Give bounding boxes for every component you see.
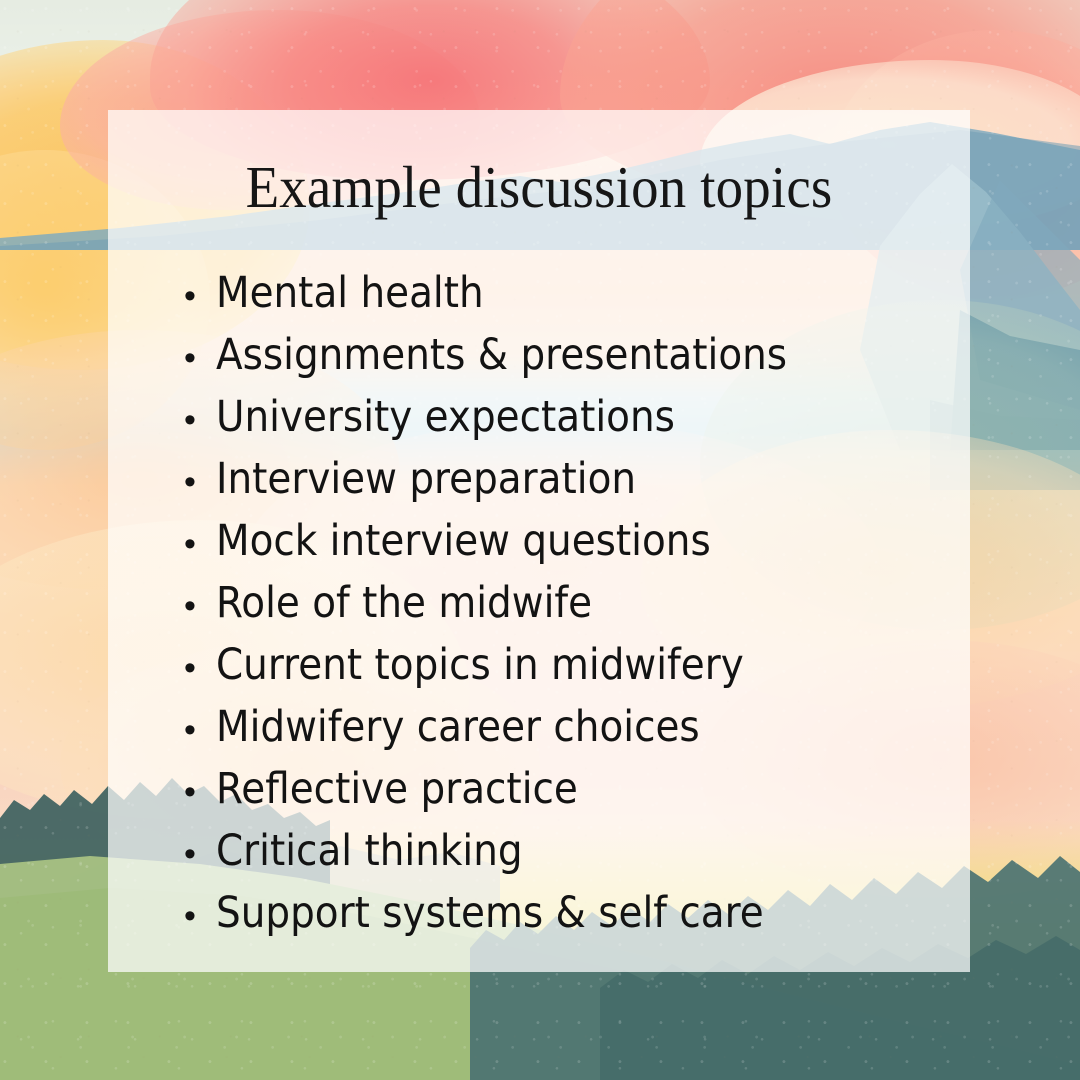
discussion-topics-list: • Mental health • Assignments & presenta…: [184, 262, 946, 944]
list-item-label: Critical thinking: [216, 820, 523, 882]
list-item: • Role of the midwife: [184, 572, 946, 634]
list-item-label: Assignments & presentations: [216, 324, 787, 386]
list-item: • Reflective practice: [184, 758, 946, 820]
bullet-icon: •: [184, 451, 216, 513]
bullet-icon: •: [184, 389, 216, 451]
list-item: • Interview preparation: [184, 448, 946, 510]
list-item: • Current topics in midwifery: [184, 634, 946, 696]
list-item-label: Interview preparation: [216, 448, 636, 510]
list-item-label: Reflective practice: [216, 758, 578, 820]
list-item: • Midwifery career choices: [184, 696, 946, 758]
list-item-label: Mental health: [216, 262, 484, 324]
list-item-label: University expectations: [216, 386, 675, 448]
list-item: • Mock interview questions: [184, 510, 946, 572]
bullet-icon: •: [184, 885, 216, 947]
bullet-icon: •: [184, 513, 216, 575]
content-panel: Example discussion topics • Mental healt…: [108, 110, 970, 972]
bullet-icon: •: [184, 265, 216, 327]
bullet-icon: •: [184, 327, 216, 389]
list-item-label: Midwifery career choices: [216, 696, 700, 758]
list-item: • Critical thinking: [184, 820, 946, 882]
list-item: • Assignments & presentations: [184, 324, 946, 386]
list-item-label: Mock interview questions: [216, 510, 711, 572]
bullet-icon: •: [184, 575, 216, 637]
bullet-icon: •: [184, 637, 216, 699]
list-item: • Mental health: [184, 262, 946, 324]
list-item: • Support systems & self care: [184, 882, 946, 944]
bullet-icon: •: [184, 761, 216, 823]
list-item: • University expectations: [184, 386, 946, 448]
bullet-icon: •: [184, 823, 216, 885]
list-item-label: Role of the midwife: [216, 572, 592, 634]
slide-canvas: Example discussion topics • Mental healt…: [0, 0, 1080, 1080]
page-title: Example discussion topics: [138, 158, 940, 217]
list-item-label: Current topics in midwifery: [216, 634, 744, 696]
bullet-icon: •: [184, 699, 216, 761]
list-item-label: Support systems & self care: [216, 882, 764, 944]
